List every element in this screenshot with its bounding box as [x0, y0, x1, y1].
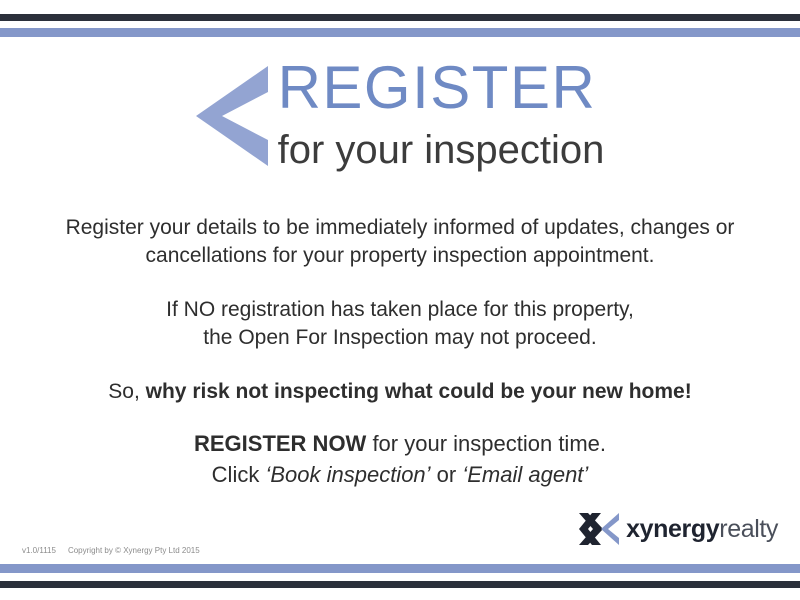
paragraph-updates: Register your details to be immediately …: [0, 214, 800, 270]
register-inspection-flyer: REGISTER for your inspection Register yo…: [0, 0, 800, 600]
why-risk-emphasis: why risk not inspecting what could be yo…: [146, 380, 692, 403]
brand-lockup: xynergyrealty: [579, 513, 778, 545]
paragraph-no-registration-line-1: If NO registration has taken place for t…: [0, 296, 800, 324]
cta-option-email-agent[interactable]: ‘Email agent’: [462, 462, 588, 487]
call-to-action: REGISTER NOW for your inspection time. C…: [0, 428, 800, 490]
xynergy-x-mark-icon: [579, 513, 619, 545]
chevron-left-icon: [196, 66, 268, 166]
cta-conjunction: or: [431, 462, 463, 487]
page-title: REGISTER: [278, 58, 605, 118]
brand-wordmark: xynergyrealty: [626, 517, 778, 542]
cta-register-now-rest: for your inspection time.: [366, 431, 606, 456]
masthead: REGISTER for your inspection: [0, 58, 800, 174]
copyright-label: Copyright by © Xynergy Pty Ltd 2015: [68, 546, 200, 555]
page-subtitle: for your inspection: [278, 126, 605, 174]
top-blue-rule: [0, 28, 800, 37]
cta-line-register-now: REGISTER NOW for your inspection time.: [0, 428, 800, 459]
body-copy: Register your details to be immediately …: [0, 214, 800, 406]
paragraph-updates-line-2: cancellations for your property inspecti…: [0, 242, 800, 270]
paragraph-no-registration: If NO registration has taken place for t…: [0, 296, 800, 352]
brand-name-bold: xynergy: [626, 515, 719, 543]
paragraph-no-registration-line-2: the Open For Inspection may not proceed.: [0, 324, 800, 352]
why-risk-lead: So,: [108, 380, 145, 403]
paragraph-why-risk: So, why risk not inspecting what could b…: [0, 378, 800, 406]
colophon: v1.0/1115Copyright by © Xynergy Pty Ltd …: [22, 545, 200, 556]
bottom-blue-rule: [0, 564, 800, 573]
cta-option-book-inspection[interactable]: ‘Book inspection’: [265, 462, 430, 487]
paragraph-updates-line-1: Register your details to be immediately …: [0, 214, 800, 242]
bottom-dark-rule: [0, 581, 800, 588]
paragraph-why-risk-line: So, why risk not inspecting what could b…: [0, 378, 800, 406]
cta-line-click-options: Click ‘Book inspection’ or ‘Email agent’: [0, 459, 800, 490]
cta-register-now-strong: REGISTER NOW: [194, 431, 366, 456]
masthead-words: REGISTER for your inspection: [278, 58, 605, 174]
brand-name-light: realty: [719, 515, 778, 543]
version-label: v1.0/1115: [22, 546, 56, 555]
top-dark-rule: [0, 14, 800, 21]
cta-click-lead: Click: [212, 462, 266, 487]
